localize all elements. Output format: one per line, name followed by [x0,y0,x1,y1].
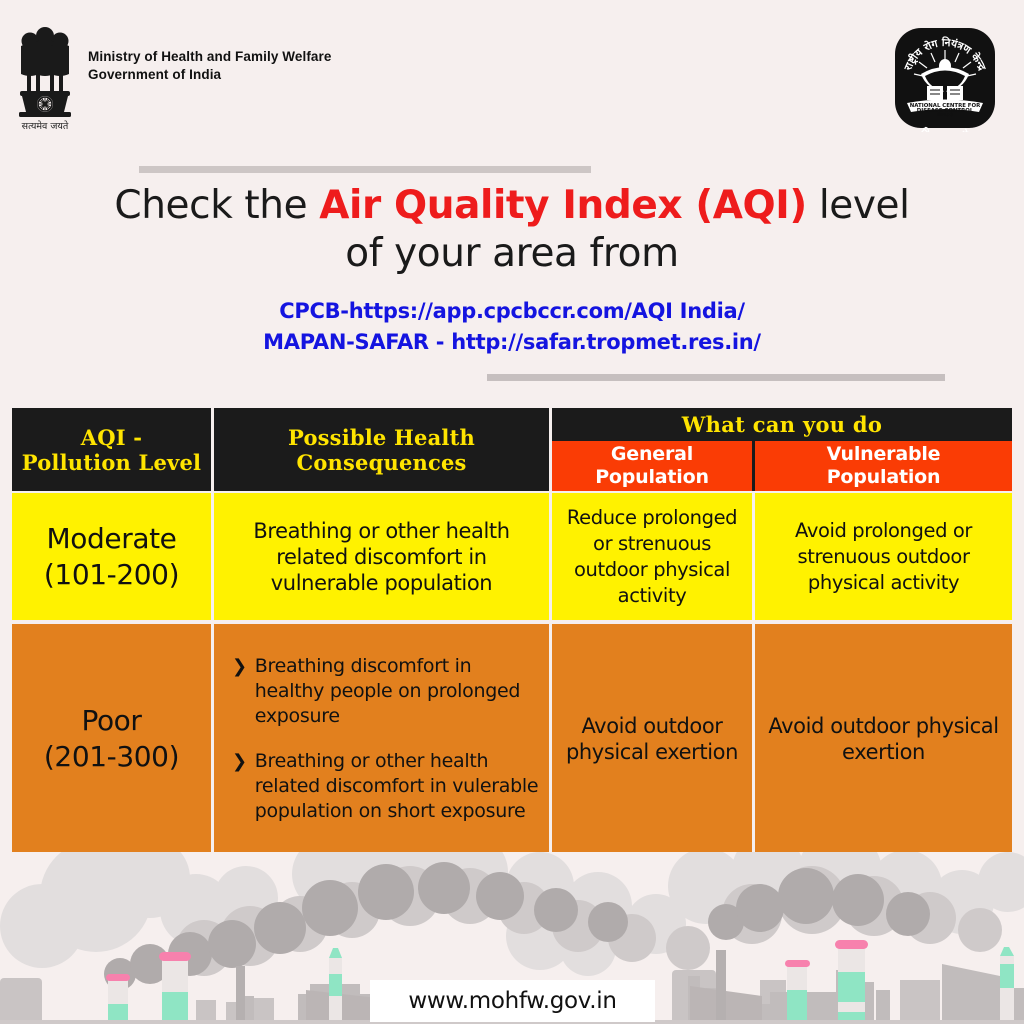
level-range-poor: (201-300) [12,739,211,775]
safar-link[interactable]: MAPAN-SAFAR - http://safar.tropmet.res.i… [0,327,1024,358]
cpcb-link[interactable]: CPCB-https://app.cpcbccr.com/AQI India/ [0,296,1024,327]
smokestack-green-far-right [1000,947,1014,1024]
title-suffix: level [807,183,910,228]
header-vulnerable-line2: Population [755,466,1012,489]
infographic-page: सत्यमेव जयते Ministry of Health and Fami… [0,0,1024,1024]
ncdc-line3: DELHI [937,112,954,118]
header-cell-aqi-level: AQI - Pollution Level [12,408,211,491]
page-title-line1: Check the Air Quality Index (AQI) level [0,182,1024,230]
title-prefix: Check the [114,183,319,228]
government-branding: सत्यमेव जयते Ministry of Health and Fami… [14,22,332,132]
list-item: ❯ Breathing discomfort in healthy people… [232,654,539,729]
footer-url-text: www.mohfw.gov.in [408,988,616,1014]
cell-general-moderate: Reduce prolonged or strenuous outdoor ph… [552,493,752,620]
level-name-poor: Poor [12,703,211,739]
india-state-emblem-icon: सत्यमेव जयते [14,22,76,132]
title-highlight: Air Quality Index (AQI) [319,183,807,228]
footer-website-url[interactable]: www.mohfw.gov.in [370,980,655,1022]
ministry-title-block: Ministry of Health and Family Welfare Go… [88,48,332,84]
ministry-name: Ministry of Health and Family Welfare [88,48,332,66]
decorative-rule-bottom [487,374,945,381]
level-name-moderate: Moderate [12,521,211,557]
header-aqi-line2: Pollution Level [12,450,211,475]
header-general-line2: Population [552,466,752,489]
header-cell-vulnerable-population: Vulnerable Population [755,441,1012,491]
header-aqi-line1: AQI - [12,425,211,450]
page-header: सत्यमेव जयते Ministry of Health and Fami… [0,0,1024,150]
header-cell-general-population: General Population [552,441,752,491]
header-cell-what-can-you-do: What can you do [552,408,1012,441]
table-header-row-top: AQI - Pollution Level Possible Health Co… [12,408,1012,441]
table-row-poor: Poor (201-300) ❯ Breathing discomfort in… [12,624,1012,853]
smokestack-striped-tall [835,940,868,1024]
cell-vulnerable-moderate: Avoid prolonged or strenuous outdoor phy… [755,493,1012,620]
smokestack-pink-tall [159,952,191,1024]
smokestack-pink-right [785,960,810,1024]
smokestack-green-small [329,948,342,1024]
aqi-source-links: CPCB-https://app.cpcbccr.com/AQI India/ … [0,296,1024,358]
decorative-rule-top [139,166,591,173]
emblem-motto-text: सत्यमेव जयते [22,120,69,132]
list-item: ❯ Breathing or other health related disc… [232,749,539,824]
cell-consequences-poor: ❯ Breathing discomfort in healthy people… [214,624,549,853]
cell-general-poor: Avoid outdoor physical exertion [552,624,752,853]
bullet-text: Breathing or other health related discom… [255,749,539,824]
header-cell-consequences: Possible Health Consequences [214,408,549,491]
header-general-line1: General [552,443,752,466]
cell-level-poor: Poor (201-300) [12,624,211,853]
cell-vulnerable-poor: Avoid outdoor physical exertion [755,624,1012,853]
bullet-text: Breathing discomfort in healthy people o… [255,654,539,729]
ncdc-seal-icon: राष्ट्रीय रोग नियंत्रण केन्द्र [891,24,999,137]
header-vulnerable-line1: Vulnerable [755,443,1012,466]
page-title: Check the Air Quality Index (AQI) level … [0,182,1024,278]
chevron-right-icon: ❯ [232,654,247,729]
cell-level-moderate: Moderate (101-200) [12,493,211,620]
smokestack-pink-left [106,974,130,1024]
table-row-moderate: Moderate (101-200) Breathing or other he… [12,493,1012,620]
chevron-right-icon: ❯ [232,749,247,824]
level-range-moderate: (101-200) [12,557,211,593]
header-consequences-line1: Possible Health [214,425,549,450]
government-name: Government of India [88,66,332,84]
aqi-advisory-table: AQI - Pollution Level Possible Health Co… [12,408,1012,853]
page-title-line2: of your area from [0,230,1024,278]
cell-consequences-moderate: Breathing or other health related discom… [214,493,549,620]
header-consequences-line2: Consequences [214,450,549,475]
